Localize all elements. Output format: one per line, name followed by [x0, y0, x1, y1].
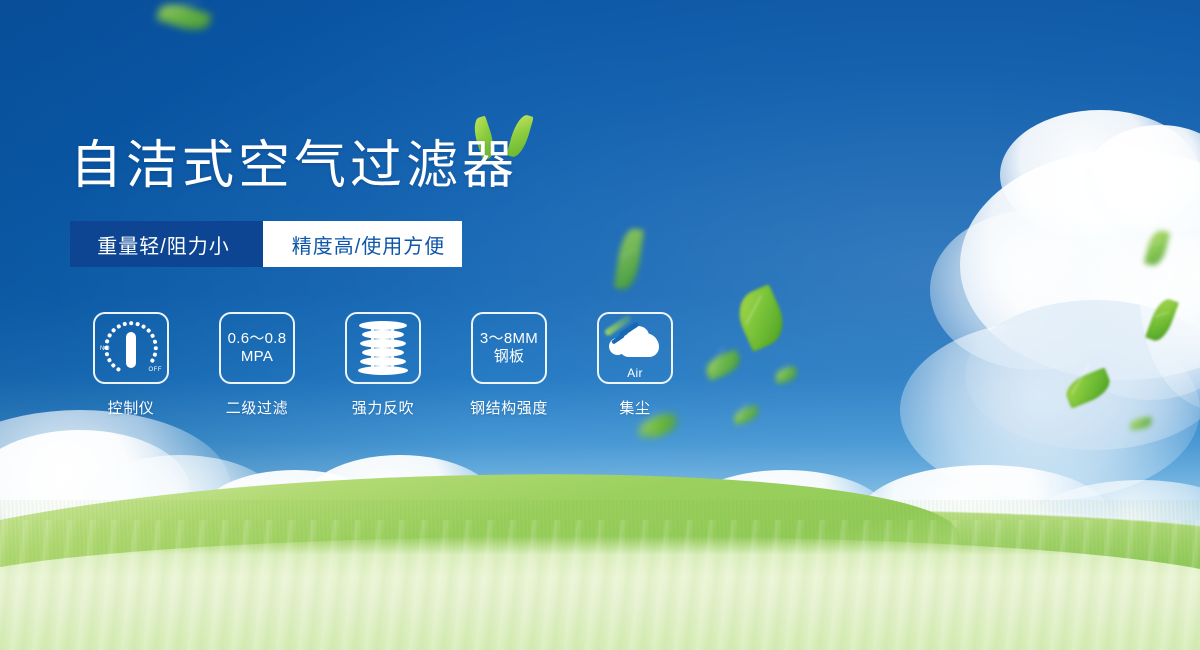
feature-item-dust[interactable]: Air 集尘 [572, 312, 698, 418]
subtitle-right-text: 精度高/使用方便 [292, 230, 446, 259]
filter-stack-ring [360, 357, 406, 366]
feature-label: 集尘 [619, 397, 650, 418]
subtitle-bar: 重量轻/阻力小 精度高/使用方便 [70, 221, 462, 267]
pressure-text-icon: 0.6～0.8 MPA [228, 330, 287, 367]
gauge-tick [116, 367, 121, 372]
subtitle-right-badge: 精度高/使用方便 [263, 221, 462, 267]
subtitle-left-text: 重量轻/阻力小 [97, 230, 230, 259]
filter-stack-ring [362, 348, 404, 357]
gauge-off-label: OFF [149, 367, 163, 373]
filter-stack-ring [360, 339, 406, 348]
grass-streaks-overlay [0, 520, 1200, 650]
gauge-tick [153, 352, 157, 356]
gauge-tick [135, 322, 139, 326]
feature-icon-box: 0.6～0.8 MPA [219, 312, 295, 384]
feature-icon-box: 3～8MM 钢板 [471, 312, 547, 384]
gauge-icon: NO OFF [101, 319, 161, 377]
gauge-needle [126, 332, 136, 368]
steel-plate-text-icon: 3～8MM 钢板 [480, 330, 538, 367]
filter-stack-icon [357, 321, 409, 375]
air-label: Air [607, 366, 663, 380]
feature-label: 二级过滤 [226, 397, 288, 418]
feature-item-controller[interactable]: NO OFF 控制仪 [68, 312, 194, 418]
feature-list: NO OFF 控制仪 0.6～0.8 MPA 二级过滤 [68, 312, 698, 418]
gauge-tick [153, 339, 157, 343]
feature-label: 强力反吹 [352, 397, 414, 418]
gauge-tick [146, 328, 151, 333]
feature-label: 控制仪 [108, 397, 155, 418]
gauge-tick [122, 322, 126, 326]
gauge-tick [107, 358, 112, 363]
gauge-tick [111, 328, 116, 333]
gauge-tick [141, 324, 146, 329]
gauge-tick [116, 324, 121, 329]
gauge-tick [105, 339, 109, 343]
gauge-tick [129, 321, 133, 325]
feature-icon-box: Air [597, 312, 673, 384]
filter-stack-ring [362, 330, 404, 339]
gauge-tick [154, 346, 158, 350]
hero-content: 自洁式空气过滤器 重量轻/阻力小 精度高/使用方便 [70, 140, 698, 418]
filter-stack-ring [358, 366, 408, 375]
page-title: 自洁式空气过滤器 [70, 140, 698, 192]
feature-label: 钢结构强度 [470, 397, 548, 418]
gauge-tick [105, 352, 109, 356]
grass-field [0, 470, 1200, 650]
product-hero-banner: 自洁式空气过滤器 重量轻/阻力小 精度高/使用方便 [0, 0, 1200, 650]
subtitle-left-badge: 重量轻/阻力小 [70, 221, 263, 267]
cloud-air-icon: Air [607, 325, 663, 369]
feature-item-blowback[interactable]: 强力反吹 [320, 312, 446, 418]
gauge-no-label: NO [100, 346, 110, 352]
gauge-tick [150, 358, 155, 363]
gauge-tick [107, 333, 112, 338]
feature-item-steel[interactable]: 3～8MM 钢板 钢结构强度 [446, 312, 572, 418]
gauge-tick [111, 363, 116, 368]
feature-icon-box: NO OFF [93, 312, 169, 384]
feature-item-pressure[interactable]: 0.6～0.8 MPA 二级过滤 [194, 312, 320, 418]
filter-stack-ring [359, 321, 407, 330]
feature-icon-box [345, 312, 421, 384]
gauge-tick [150, 333, 155, 338]
